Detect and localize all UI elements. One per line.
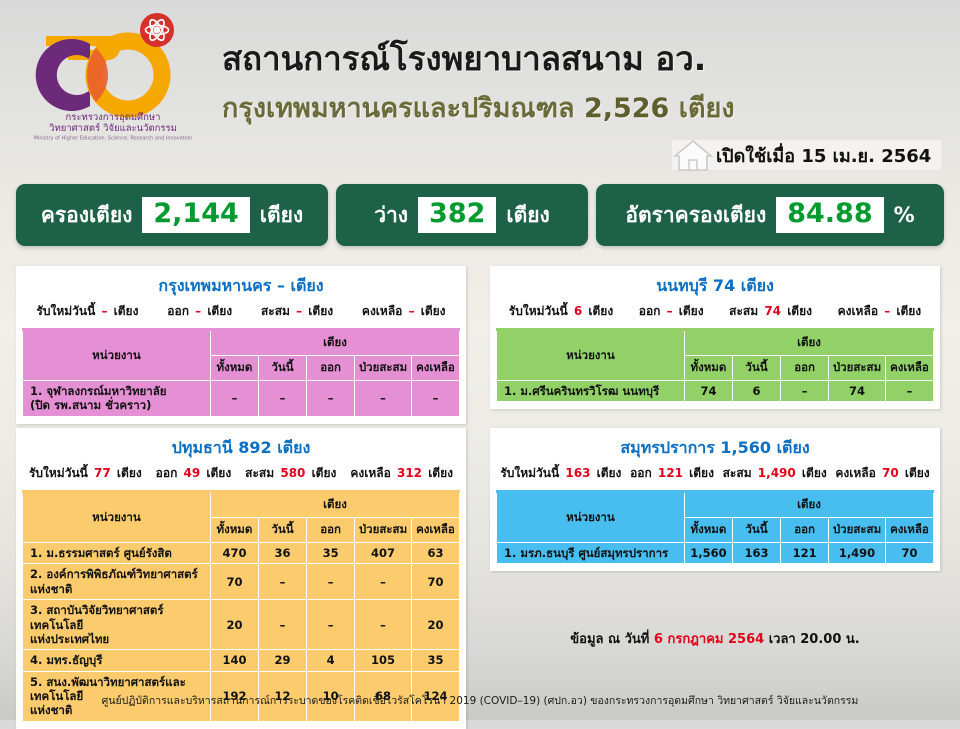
header-col-2: ออก (781, 518, 829, 543)
row-remaining: 35 (411, 650, 459, 671)
stat-cumulative: สะสม 74 เตียง (729, 302, 812, 321)
row-today: – (258, 381, 306, 417)
stat-discharged: ออก – เตียง (639, 302, 704, 321)
data-as-of-date: 6 กรกฎาคม 2564 (654, 632, 764, 647)
stat-cumulative: สะสม – เตียง (261, 302, 333, 321)
logo-english-line: Ministry of Higher Education, Science, R… (34, 136, 193, 142)
stat-cumulative: สะสม 580 เตียง (245, 464, 336, 483)
summary-occupied-beds: ครองเตียง 2,144 เตียง (16, 184, 328, 246)
page-title: สถานการณ์โรงพยาบาลสนาม อว. (222, 32, 706, 85)
subtitle-total-beds: 2,526 (584, 93, 669, 124)
row-remaining: – (411, 381, 459, 417)
row-organization: 2. องค์การพิพิธภัณฑ์วิทยาศาสตร์แห่งชาติ (23, 564, 211, 600)
row-cumulative: – (355, 564, 412, 600)
header-col-3: ป่วยสะสม (355, 518, 412, 543)
row-remaining: 70 (411, 564, 459, 600)
table-row: 4. มทร.ธัญบุรี 140 29 4 105 35 (23, 650, 460, 671)
data-as-of: ข้อมูล ณ วันที่ 6 กรกฎาคม 2564 เวลา 20.0… (490, 628, 940, 649)
row-discharged: 121 (781, 543, 829, 564)
summary-bar: ครองเตียง 2,144 เตียง ว่าง 382 เตียง อัต… (0, 184, 960, 250)
header-beds-group: เตียง (684, 330, 933, 356)
panel-title: สมุทรปราการ 1,560 เตียง (490, 428, 940, 464)
row-discharged: – (307, 381, 355, 417)
row-discharged: 35 (307, 543, 355, 564)
header-col-2: ออก (307, 518, 355, 543)
header-col-3: ป่วยสะสม (829, 518, 886, 543)
row-today: 29 (258, 650, 306, 671)
row-organization: 1. จุฬาลงกรณ์มหาวิทยาลัย(ปิด รพ.สนาม ชั่… (23, 381, 211, 417)
summary-free-beds: ว่าง 382 เตียง (336, 184, 588, 246)
row-organization: 4. มทร.ธัญบุรี (23, 650, 211, 671)
header-col-2: ออก (307, 356, 355, 381)
row-organization: 3. สถาบันวิจัยวิทยาศาสตร์เทคโนโลยีแห่งปร… (23, 600, 211, 650)
header-col-0: ทั้งหมด (684, 356, 732, 381)
row-total: 1,560 (684, 543, 732, 564)
summary-occupied-value: 2,144 (142, 197, 249, 232)
row-total: 470 (210, 543, 258, 564)
mhesi-30th-anniversary-logo-icon: กระทรวงการอุดมศึกษา วิทยาศาสตร์ วิจัยและ… (18, 8, 208, 143)
subtitle-region: กรุงเทพมหานครและปริมณฑล (222, 93, 575, 124)
province-panel-bangkok: กรุงเทพมหานคร – เตียง รับใหม่วันนี้ – เต… (16, 266, 466, 424)
data-as-of-suffix: เวลา 20.00 น. (769, 632, 860, 647)
row-today: – (258, 564, 306, 600)
table-row: 1. จุฬาลงกรณ์มหาวิทยาลัย(ปิด รพ.สนาม ชั่… (23, 381, 460, 417)
beds-table: หน่วยงาน เตียง ทั้งหมดวันนี้ออกป่วยสะสมค… (496, 328, 934, 402)
header-col-0: ทั้งหมด (684, 518, 732, 543)
panel-title: นนทบุรี 74 เตียง (490, 266, 940, 302)
row-today: 36 (258, 543, 306, 564)
row-today: – (258, 600, 306, 650)
header-col-3: ป่วยสะสม (829, 356, 886, 381)
panel-summary-stats: รับใหม่วันนี้ – เตียงออก – เตียงสะสม – เ… (16, 302, 466, 328)
row-remaining: – (885, 381, 933, 402)
row-discharged: 4 (307, 650, 355, 671)
beds-table: หน่วยงาน เตียง ทั้งหมดวันนี้ออกป่วยสะสมค… (496, 490, 934, 564)
row-remaining: 20 (411, 600, 459, 650)
open-since-text: เปิดใช้เมื่อ 15 เม.ย. 2564 (716, 141, 931, 170)
row-cumulative: 74 (829, 381, 886, 402)
footer-note: ศูนย์ปฏิบัติการและบริหารสถานการณ์การระบา… (0, 692, 960, 709)
header-col-1: วันนี้ (732, 356, 780, 381)
row-discharged: – (307, 564, 355, 600)
page-header: กระทรวงการอุดมศึกษา วิทยาศาสตร์ วิจัยและ… (0, 0, 960, 180)
summary-free-label: ว่าง (374, 199, 408, 232)
header-col-2: ออก (781, 356, 829, 381)
province-panel-samutprakan: สมุทรปราการ 1,560 เตียง รับใหม่วันนี้ 16… (490, 428, 940, 571)
row-total: 74 (684, 381, 732, 402)
table-row: 3. สถาบันวิจัยวิทยาศาสตร์เทคโนโลยีแห่งปร… (23, 600, 460, 650)
stat-remaining: คงเหลือ 70 เตียง (835, 464, 929, 483)
subtitle-unit: เตียง (679, 93, 735, 124)
stat-discharged: ออก 49 เตียง (156, 464, 232, 483)
stat-new-today: รับใหม่วันนี้ – เตียง (36, 302, 138, 321)
header-organization: หน่วยงาน (497, 492, 685, 543)
data-as-of-prefix: ข้อมูล ณ วันที่ (570, 632, 649, 647)
header-beds-group: เตียง (684, 492, 933, 518)
header-col-4: คงเหลือ (885, 356, 933, 381)
table-header-row: หน่วยงาน เตียง (497, 492, 934, 518)
summary-rate-value: 84.88 (776, 197, 883, 232)
header-col-4: คงเหลือ (411, 518, 459, 543)
panel-summary-stats: รับใหม่วันนี้ 77 เตียงออก 49 เตียงสะสม 5… (16, 464, 466, 490)
row-cumulative: 105 (355, 650, 412, 671)
stat-discharged: ออก – เตียง (167, 302, 232, 321)
table-row: 1. ม.ศรีนครินทรวิโรฒ นนทบุรี 74 6 – 74 – (497, 381, 934, 402)
row-total: 70 (210, 564, 258, 600)
stat-remaining: คงเหลือ – เตียง (362, 302, 446, 321)
row-remaining: 70 (885, 543, 933, 564)
stat-discharged: ออก 121 เตียง (630, 464, 714, 483)
header-col-0: ทั้งหมด (210, 518, 258, 543)
row-organization: 1. ม.ศรีนครินทรวิโรฒ นนทบุรี (497, 381, 685, 402)
row-remaining: 63 (411, 543, 459, 564)
table-row: 1. ม.ธรรมศาสตร์ ศูนย์รังสิต 470 36 35 40… (23, 543, 460, 564)
header-organization: หน่วยงาน (23, 330, 211, 381)
header-col-4: คงเหลือ (411, 356, 459, 381)
logo-thai-line1: กระทรวงการอุดมศึกษา (66, 112, 161, 123)
row-total: 20 (210, 600, 258, 650)
row-today: 6 (732, 381, 780, 402)
summary-rate-unit: % (894, 203, 915, 227)
house-icon (672, 138, 714, 172)
panel-title: กรุงเทพมหานคร – เตียง (16, 266, 466, 302)
summary-free-unit: เตียง (506, 199, 549, 232)
row-total: 140 (210, 650, 258, 671)
summary-free-value: 382 (418, 197, 496, 232)
header-col-4: คงเหลือ (885, 518, 933, 543)
header-organization: หน่วยงาน (497, 330, 685, 381)
open-since-badge: เปิดใช้เมื่อ 15 เม.ย. 2564 (672, 140, 941, 170)
row-cumulative: 407 (355, 543, 412, 564)
panel-summary-stats: รับใหม่วันนี้ 6 เตียงออก – เตียงสะสม 74 … (490, 302, 940, 328)
header-beds-group: เตียง (210, 492, 459, 518)
province-panel-pathumthani: ปทุมธานี 892 เตียง รับใหม่วันนี้ 77 เตีย… (16, 428, 466, 729)
summary-occupancy-rate: อัตราครองเตียง 84.88 % (596, 184, 944, 246)
row-organization: 1. ม.ธรรมศาสตร์ ศูนย์รังสิต (23, 543, 211, 564)
ministry-logo: กระทรวงการอุดมศึกษา วิทยาศาสตร์ วิจัยและ… (18, 8, 208, 143)
page-subtitle: กรุงเทพมหานครและปริมณฑล 2,526 เตียง (222, 86, 735, 129)
stat-new-today: รับใหม่วันนี้ 6 เตียง (509, 302, 613, 321)
row-organization: 1. มรภ.ธนบุรี ศูนย์สมุทรปราการ (497, 543, 685, 564)
table-row: 1. มรภ.ธนบุรี ศูนย์สมุทรปราการ 1,560 163… (497, 543, 934, 564)
row-cumulative: 1,490 (829, 543, 886, 564)
beds-table: หน่วยงาน เตียง ทั้งหมดวันนี้ออกป่วยสะสมค… (22, 490, 460, 722)
header-col-3: ป่วยสะสม (355, 356, 412, 381)
header-col-1: วันนี้ (258, 518, 306, 543)
header-col-1: วันนี้ (258, 356, 306, 381)
stat-new-today: รับใหม่วันนี้ 163 เตียง (500, 464, 621, 483)
summary-rate-label: อัตราครองเตียง (625, 199, 766, 232)
stat-remaining: คงเหลือ 312 เตียง (350, 464, 453, 483)
header-organization: หน่วยงาน (23, 492, 211, 543)
province-panel-nonthaburi: นนทบุรี 74 เตียง รับใหม่วันนี้ 6 เตียงออ… (490, 266, 940, 409)
stat-cumulative: สะสม 1,490 เตียง (723, 464, 827, 483)
table-header-row: หน่วยงาน เตียง (23, 330, 460, 356)
header-col-1: วันนี้ (732, 518, 780, 543)
row-discharged: – (307, 600, 355, 650)
panel-title: ปทุมธานี 892 เตียง (16, 428, 466, 464)
summary-occupied-label: ครองเตียง (41, 199, 133, 232)
row-discharged: – (781, 381, 829, 402)
row-cumulative: – (355, 381, 412, 417)
stat-remaining: คงเหลือ – เตียง (838, 302, 922, 321)
table-header-row: หน่วยงาน เตียง (23, 492, 460, 518)
header-col-0: ทั้งหมด (210, 356, 258, 381)
summary-occupied-unit: เตียง (260, 199, 303, 232)
row-today: 163 (732, 543, 780, 564)
table-row: 2. องค์การพิพิธภัณฑ์วิทยาศาสตร์แห่งชาติ … (23, 564, 460, 600)
logo-thai-line2: วิทยาศาสตร์ วิจัยและนวัตกรรม (48, 122, 176, 134)
beds-table: หน่วยงาน เตียง ทั้งหมดวันนี้ออกป่วยสะสมค… (22, 328, 460, 417)
panel-summary-stats: รับใหม่วันนี้ 163 เตียงออก 121 เตียงสะสม… (490, 464, 940, 490)
table-header-row: หน่วยงาน เตียง (497, 330, 934, 356)
header-beds-group: เตียง (210, 330, 459, 356)
row-cumulative: – (355, 600, 412, 650)
stat-new-today: รับใหม่วันนี้ 77 เตียง (29, 464, 142, 483)
row-total: – (210, 381, 258, 417)
